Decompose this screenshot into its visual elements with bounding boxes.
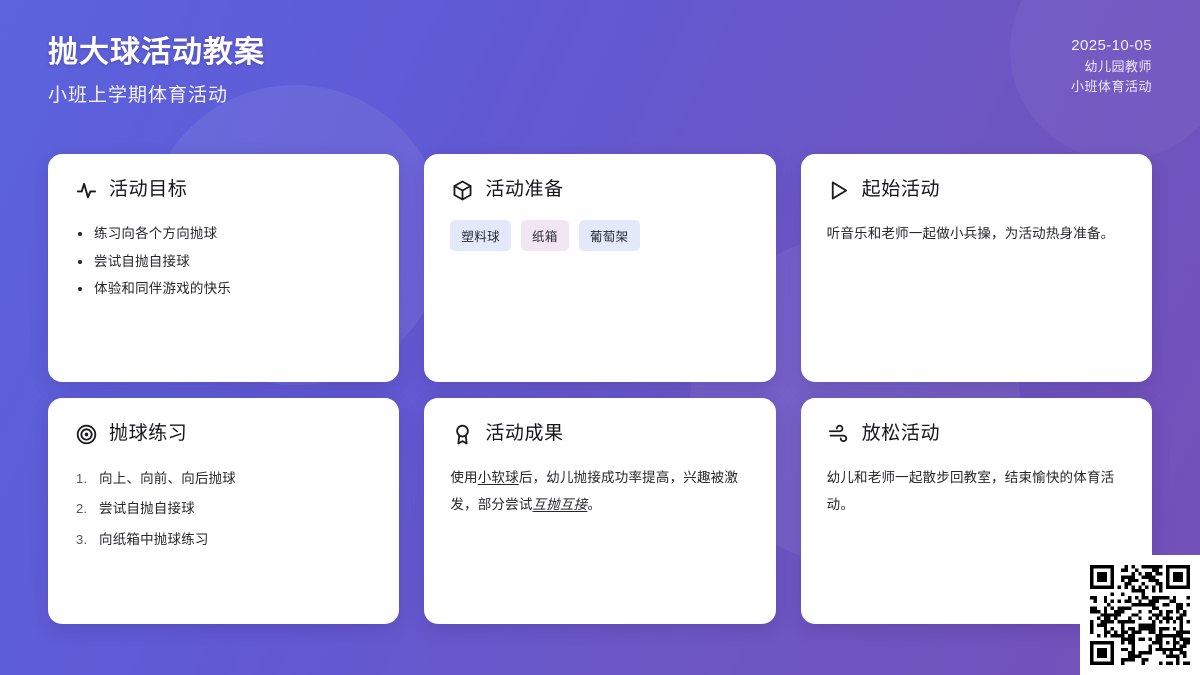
card-paragraph: 幼儿和老师一起散步回教室，结束愉快的体育活动。 bbox=[827, 464, 1126, 518]
list-item: 体验和同伴游戏的快乐 bbox=[74, 275, 373, 303]
title-block: 抛大球活动教案 小班上学期体育活动 bbox=[48, 34, 265, 107]
card-header: 起始活动 bbox=[827, 178, 1126, 202]
card-title: 活动成果 bbox=[485, 423, 563, 446]
card-throwing-practice[interactable]: 抛球练习 向上、向前、向后抛球 尝试自抛自接球 向纸箱中抛球练习 bbox=[48, 398, 399, 624]
material-chip[interactable]: 塑料球 bbox=[450, 220, 511, 251]
card-starting-activity[interactable]: 起始活动 听音乐和老师一起做小兵操，为活动热身准备。 bbox=[801, 154, 1152, 382]
target-bullseye-icon bbox=[74, 422, 98, 446]
slide-root: 抛大球活动教案 小班上学期体育活动 2025-10-05 幼儿园教师 小班体育活… bbox=[0, 0, 1200, 675]
slide-header: 抛大球活动教案 小班上学期体育活动 2025-10-05 幼儿园教师 小班体育活… bbox=[48, 34, 1152, 107]
card-paragraph: 听音乐和老师一起做小兵操，为活动热身准备。 bbox=[827, 220, 1126, 247]
outcome-text-part-3: 。 bbox=[587, 497, 601, 512]
card-title: 起始活动 bbox=[862, 179, 940, 202]
card-title: 抛球练习 bbox=[109, 423, 187, 446]
practice-steps-list: 向上、向前、向后抛球 尝试自抛自接球 向纸箱中抛球练习 bbox=[74, 464, 373, 555]
card-header: 活动准备 bbox=[450, 178, 749, 202]
material-chip[interactable]: 纸箱 bbox=[521, 220, 569, 251]
qr-code bbox=[1090, 565, 1190, 665]
page-subtitle: 小班上学期体育活动 bbox=[48, 80, 265, 107]
card-header: 抛球练习 bbox=[74, 422, 373, 446]
card-header: 放松活动 bbox=[827, 422, 1126, 446]
box-package-icon bbox=[450, 178, 474, 202]
card-title: 活动准备 bbox=[485, 179, 563, 202]
card-activity-outcome[interactable]: 活动成果 使用小软球后，幼儿抛接成功率提高，兴趣被激发，部分尝试互抛互接。 bbox=[424, 398, 775, 624]
card-activity-goals[interactable]: 活动目标 练习向各个方向抛球 尝试自抛自接球 体验和同伴游戏的快乐 bbox=[48, 154, 399, 382]
card-title: 放松活动 bbox=[862, 423, 940, 446]
play-triangle-icon bbox=[827, 178, 851, 202]
header-meta: 2025-10-05 幼儿园教师 小班体育活动 bbox=[1071, 34, 1152, 98]
list-item: 尝试自抛自接球 bbox=[74, 494, 373, 524]
card-header: 活动成果 bbox=[450, 422, 749, 446]
header-category: 小班体育活动 bbox=[1071, 77, 1152, 97]
outcome-text-part-1: 使用 bbox=[450, 470, 477, 485]
outcome-emphasis-term: 互抛互接 bbox=[533, 497, 588, 512]
card-title: 活动目标 bbox=[109, 179, 187, 202]
page-title: 抛大球活动教案 bbox=[48, 34, 265, 72]
list-item: 尝试自抛自接球 bbox=[74, 248, 373, 276]
outcome-underlined-term: 小软球 bbox=[478, 470, 519, 485]
header-author: 幼儿园教师 bbox=[1071, 57, 1152, 77]
list-item: 练习向各个方向抛球 bbox=[74, 220, 373, 248]
qr-code-container bbox=[1080, 555, 1200, 675]
material-chip[interactable]: 葡萄架 bbox=[579, 220, 640, 251]
list-item: 向上、向前、向后抛球 bbox=[74, 464, 373, 494]
card-paragraph: 使用小软球后，幼儿抛接成功率提高，兴趣被激发，部分尝试互抛互接。 bbox=[450, 464, 749, 518]
card-header: 活动目标 bbox=[74, 178, 373, 202]
goals-list: 练习向各个方向抛球 尝试自抛自接球 体验和同伴游戏的快乐 bbox=[74, 220, 373, 303]
activity-pulse-icon bbox=[74, 178, 98, 202]
card-grid: 活动目标 练习向各个方向抛球 尝试自抛自接球 体验和同伴游戏的快乐 活动准备 bbox=[48, 154, 1152, 624]
award-medal-icon bbox=[450, 422, 474, 446]
wind-icon bbox=[827, 422, 851, 446]
list-item: 向纸箱中抛球练习 bbox=[74, 525, 373, 555]
header-date: 2025-10-05 bbox=[1071, 34, 1152, 57]
materials-chip-group: 塑料球 纸箱 葡萄架 bbox=[450, 220, 749, 251]
card-activity-preparation[interactable]: 活动准备 塑料球 纸箱 葡萄架 bbox=[424, 154, 775, 382]
